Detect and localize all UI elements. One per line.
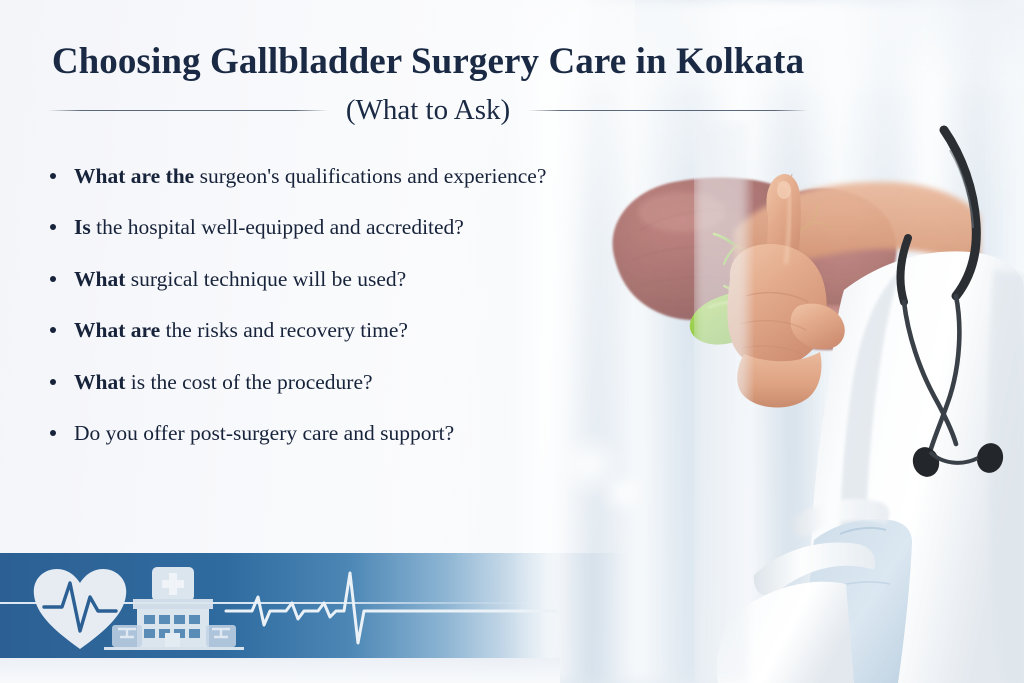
question-rest: is the cost of the procedure? — [125, 370, 372, 394]
title-block: Choosing Gallbladder Surgery Care in Kol… — [48, 40, 808, 127]
list-item: Is the hospital well-equipped and accred… — [44, 214, 684, 241]
page-subtitle: (What to Ask) — [346, 94, 510, 127]
list-item: What are the surgeon's qualifications an… — [44, 163, 684, 190]
bullet-dot-icon — [50, 379, 56, 385]
question-rest: surgeon's qualifications and experience? — [194, 164, 546, 188]
question-lead: Is — [74, 215, 91, 239]
banner-icon-group — [0, 553, 560, 658]
question-rest: the hospital well-equipped and accredite… — [91, 215, 464, 239]
question-rest: the risks and recovery time? — [160, 318, 408, 342]
bottom-banner — [0, 553, 560, 658]
list-item: What surgical technique will be used? — [44, 266, 684, 293]
question-lead: What are the — [74, 164, 194, 188]
page-title: Choosing Gallbladder Surgery Care in Kol… — [48, 40, 808, 84]
question-rest: surgical technique will be used? — [125, 267, 406, 291]
bullet-dot-icon — [50, 276, 56, 282]
question-rest: Do you offer post-surgery care and suppo… — [74, 421, 454, 445]
hospital-building-icon — [104, 567, 244, 650]
banner-bottom-fade — [0, 658, 560, 683]
list-item: What are the risks and recovery time? — [44, 317, 684, 344]
infographic-poster: Choosing Gallbladder Surgery Care in Kol… — [0, 0, 1024, 683]
subtitle-rule-left — [48, 110, 328, 111]
doctor-pointing-figure — [694, 120, 1024, 683]
subtitle-row: (What to Ask) — [48, 94, 808, 127]
bullet-dot-icon — [50, 430, 56, 436]
bullet-dot-icon — [50, 327, 56, 333]
bullet-dot-icon — [50, 173, 56, 179]
question-lead: What are — [74, 318, 160, 342]
list-item: What is the cost of the procedure? — [44, 369, 684, 396]
ecg-waveform-icon — [226, 573, 556, 643]
question-lead: What — [74, 370, 125, 394]
question-list: What are the surgeon's qualifications an… — [44, 163, 684, 471]
question-lead: What — [74, 267, 125, 291]
bullet-dot-icon — [50, 224, 56, 230]
list-item: Do you offer post-surgery care and suppo… — [44, 420, 684, 447]
subtitle-rule-right — [528, 110, 808, 111]
